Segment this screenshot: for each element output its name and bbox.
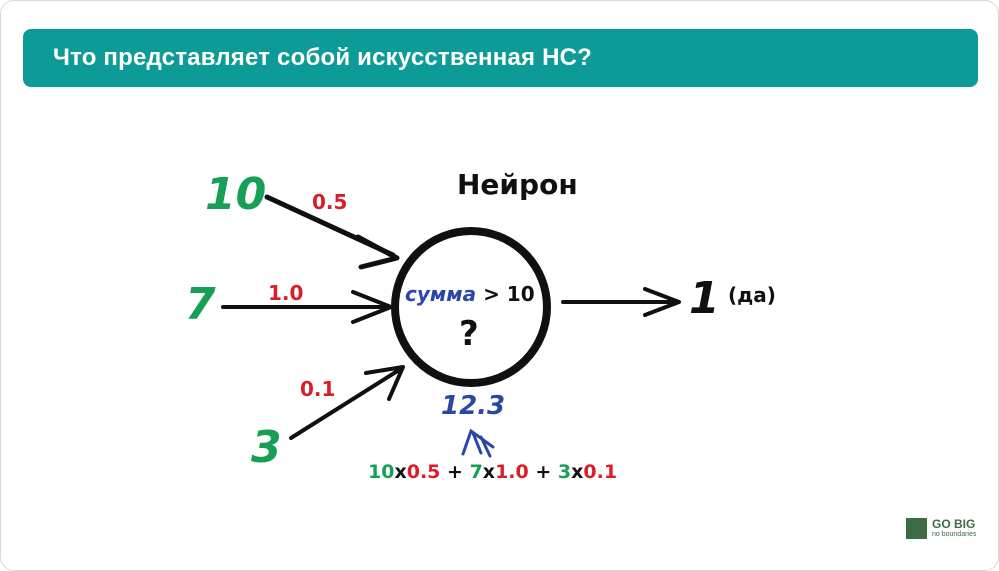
formula-term1-weight: 0.5 [407,461,441,483]
input-value-7: 7 [185,283,216,327]
arrow-input-7 [223,292,391,322]
formula-term1-input: 10 [368,461,394,483]
neuron-circle [395,231,547,383]
formula-term2-input: 7 [470,461,483,483]
condition-threshold: > 10 [483,282,535,306]
weight-label-0.5: 0.5 [312,192,347,212]
formula-term2-weight: 1.0 [495,461,529,483]
input-value-3: 3 [251,426,282,470]
arrow-output [563,289,679,315]
input-value-10: 10 [205,173,266,217]
formula-term1-mul: x [394,461,406,483]
slide-canvas: Что представляет собой искусственная НС? [0,0,999,571]
formula-term2-mul: x [483,461,495,483]
logo-text: GO BIG no boundaries [932,518,976,538]
condition-sum-word: сумма [405,282,476,306]
blue-up-arrow [463,431,493,456]
output-value: 1 [689,277,720,321]
weight-label-1.0: 1.0 [268,283,303,303]
formula-term3-input: 3 [558,461,571,483]
logo-square-icon [906,518,927,539]
neuron-title-label: Нейрон [457,171,578,199]
formula-plus-1: + [447,461,463,483]
logo-main-text: GO BIG [932,518,976,531]
formula-term3-mul: x [571,461,583,483]
neuron-condition: сумма > 10 [405,284,535,304]
formula-term3-weight: 0.1 [583,461,617,483]
sum-formula: 10x0.5 + 7x1.0 + 3x0.1 [368,463,617,482]
weight-label-0.1: 0.1 [300,379,335,399]
output-word-label: (да) [728,285,776,305]
sum-result-value: 12.3 [441,393,505,419]
formula-plus-2: + [535,461,551,483]
logo-tagline: no boundaries [932,531,976,539]
neuron-question-mark: ? [459,317,479,351]
brand-logo: GO BIG no boundaries [906,518,976,539]
